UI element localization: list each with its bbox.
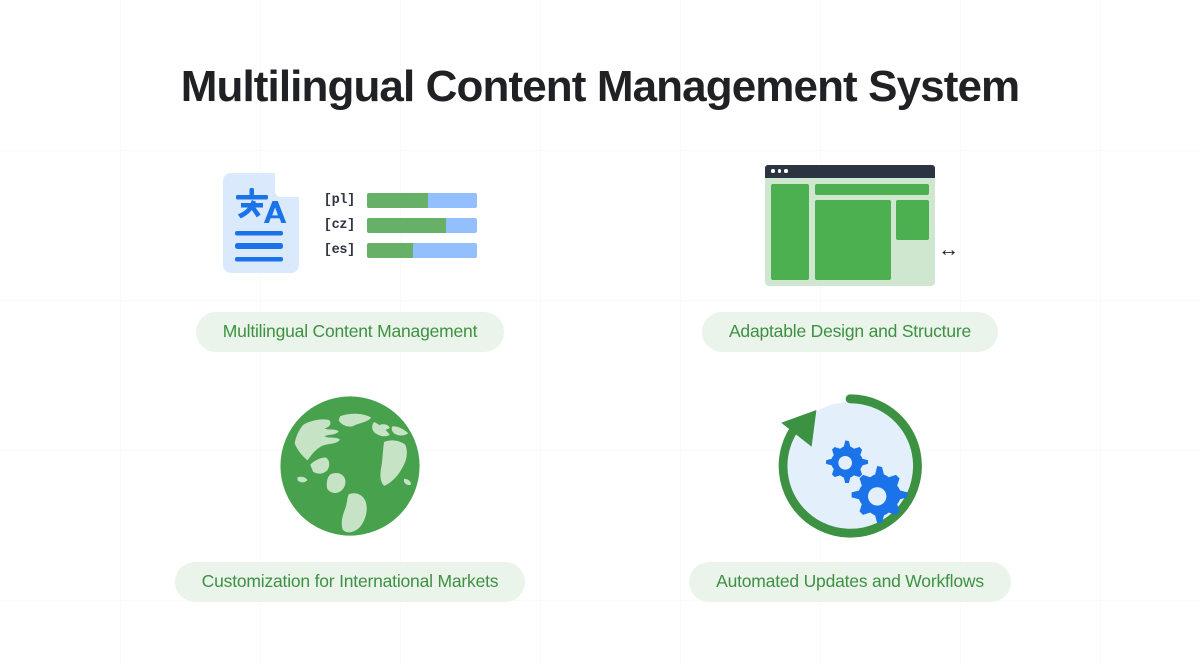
- language-progress-fill: [367, 193, 428, 208]
- language-code: [cz]: [321, 218, 355, 233]
- layout-main-column: [815, 184, 929, 280]
- browser-body: [765, 178, 935, 286]
- language-progress-bar: [367, 243, 477, 258]
- layout-content-row: [815, 200, 929, 280]
- language-code: [es]: [321, 243, 355, 258]
- layout-right-column: [896, 200, 929, 280]
- language-progress-bar: [367, 218, 477, 233]
- layout-block-content: [815, 200, 891, 280]
- resize-horizontal-icon: ↔: [938, 239, 959, 260]
- feature-card-customization-for-international-markets[interactable]: Customization for International Markets: [100, 382, 600, 614]
- feature-grid: [pl] [cz] [es]: [100, 150, 1100, 614]
- layout-block-sidebar: [771, 184, 809, 280]
- infographic-page: Multilingual Content Management System: [0, 0, 1200, 664]
- feature-label-customization-for-international-markets[interactable]: Customization for International Markets: [175, 562, 526, 602]
- language-row: [pl]: [321, 193, 477, 208]
- automated-updates-illustration: [600, 382, 1100, 550]
- globe-icon: [279, 395, 421, 537]
- layout-block-header: [815, 184, 929, 195]
- browser-dot: [784, 169, 788, 173]
- language-progress-bar: [367, 193, 477, 208]
- gears-refresh-icon: [770, 386, 930, 546]
- feature-label-adaptable-design-and-structure[interactable]: Adaptable Design and Structure: [702, 312, 998, 352]
- layout-block-widget: [896, 200, 929, 240]
- language-progress-fill: [367, 243, 413, 258]
- translate-document-icon: [223, 173, 299, 278]
- browser-layout-icon: ↔: [765, 165, 935, 286]
- page-title: Multilingual Content Management System: [0, 62, 1200, 112]
- feature-card-adaptable-design-and-structure[interactable]: ↔ Adaptable Design and Structure: [600, 150, 1100, 382]
- language-progress-fill: [367, 218, 446, 233]
- language-code: [pl]: [321, 193, 355, 208]
- feature-label-multilingual-content-management[interactable]: Multilingual Content Management: [196, 312, 505, 352]
- language-row: [es]: [321, 243, 477, 258]
- browser-dot: [778, 169, 782, 173]
- adaptable-design-illustration: ↔: [600, 150, 1100, 300]
- language-progress-list: [pl] [cz] [es]: [321, 193, 477, 258]
- feature-label-automated-updates-and-workflows[interactable]: Automated Updates and Workflows: [689, 562, 1011, 602]
- language-row: [cz]: [321, 218, 477, 233]
- feature-card-automated-updates-and-workflows[interactable]: Automated Updates and Workflows: [600, 382, 1100, 614]
- multilingual-illustration: [pl] [cz] [es]: [100, 150, 600, 300]
- feature-card-multilingual-content-management[interactable]: [pl] [cz] [es]: [100, 150, 600, 382]
- globe-illustration: [100, 382, 600, 550]
- browser-titlebar: [765, 165, 935, 178]
- browser-dot: [771, 169, 775, 173]
